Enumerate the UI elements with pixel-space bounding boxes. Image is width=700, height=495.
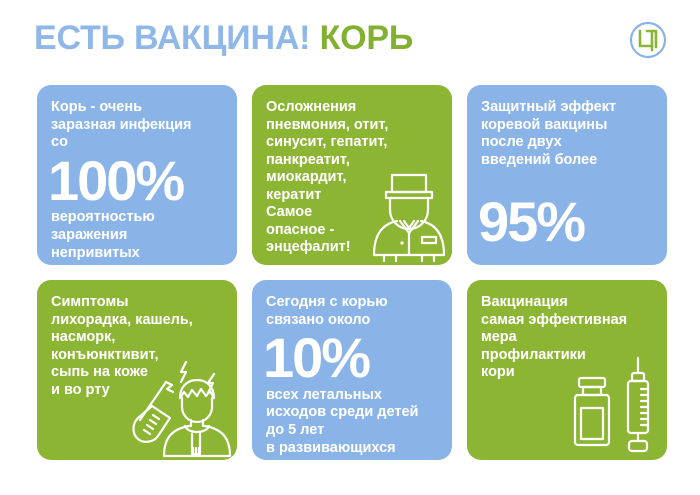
card-complications-text: Осложнения пневмония, отит, синусит, геп… (266, 99, 440, 257)
card-contagiousness-lead-text: Корь - очень заразная инфекция со (51, 99, 225, 152)
card-mortality-trail-text: всех летальных исходов среди детей до 5 … (266, 387, 440, 460)
card-prevention: Вакцинация самая эффективная мера профил… (467, 280, 667, 460)
card-vaccine-efficacy-figure: 95% (478, 195, 655, 250)
card-symptoms: Симптомы лихорадка, кашель, насморк, кон… (37, 280, 237, 460)
card-prevention-text: Вакцинация самая эффективная мера профил… (481, 294, 655, 382)
card-mortality: Сегодня с корью связано около 10% всех л… (252, 280, 452, 460)
card-mortality-lead-text: Сегодня с корью связано около (266, 294, 440, 329)
card-contagiousness-trail-text: вероятностью заражения непривитых (51, 209, 225, 262)
page-title-primary: ЕСТЬ ВАКЦИНА! (34, 19, 310, 57)
page-title: ЕСТЬ ВАКЦИНА! КОРЬ (34, 19, 413, 58)
card-mortality-figure: 10% (263, 331, 440, 386)
card-vaccine-efficacy: Защитный эффект коревой вакцины после дв… (467, 85, 667, 265)
card-complications: Осложнения пневмония, отит, синусит, геп… (252, 85, 452, 265)
page-title-accent: КОРЬ (320, 19, 414, 57)
clinic-monogram-logo-icon (628, 20, 668, 60)
header: ЕСТЬ ВАКЦИНА! КОРЬ (0, 0, 700, 80)
infographic-card-grid: Корь - очень заразная инфекция со 100% в… (37, 85, 668, 460)
card-contagiousness-figure: 100% (48, 154, 225, 209)
card-symptoms-text: Симптомы лихорадка, кашель, насморк, кон… (51, 294, 225, 399)
card-contagiousness: Корь - очень заразная инфекция со 100% в… (37, 85, 237, 265)
card-vaccine-efficacy-text: Защитный эффект коревой вакцины после дв… (481, 99, 655, 169)
